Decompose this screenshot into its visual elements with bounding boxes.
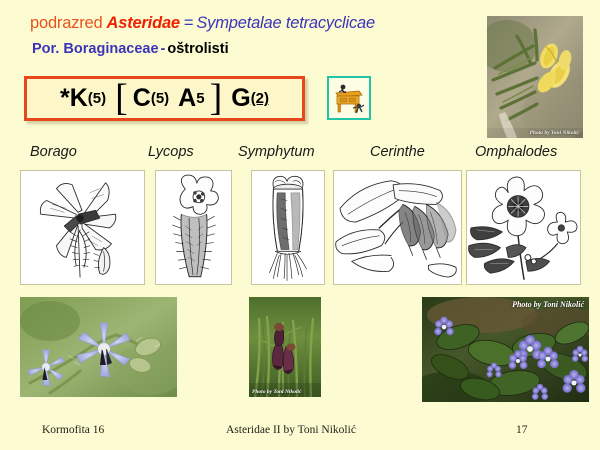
formula-calyx-letter: K bbox=[70, 84, 88, 113]
formula-bracket-open: [ bbox=[115, 85, 128, 112]
title-synonym: Sympetalae tetracyclicae bbox=[196, 14, 375, 32]
genus-label-symphytum: Symphytum bbox=[238, 144, 315, 160]
formula-gynoecium-subscript: (2) bbox=[251, 90, 269, 107]
title-equals: = bbox=[180, 14, 196, 32]
drawing-panel-lycops bbox=[155, 170, 232, 285]
floral-formula-box: *K(5)[C(5)A5]G(2) bbox=[24, 76, 305, 121]
title-subclass-word: podrazred bbox=[30, 14, 103, 32]
genus-label-omphalodes: Omphalodes bbox=[475, 144, 557, 160]
genus-label-cerinthe: Cerinthe bbox=[370, 144, 425, 160]
formula-androecium-letter: A bbox=[178, 84, 196, 113]
drawing-panel-cerinthe bbox=[333, 170, 462, 285]
desk-cartoon-icon bbox=[327, 76, 371, 120]
borago-flower-photo bbox=[20, 297, 177, 397]
floral-formula: *K(5)[C(5)A5]G(2) bbox=[27, 79, 302, 118]
formula-androecium-subscript: 5 bbox=[196, 90, 204, 107]
footer-left: Kormofita 16 bbox=[42, 424, 104, 436]
title-subclass-name: Asteridae bbox=[103, 14, 180, 32]
formula-gynoecium-letter: G bbox=[231, 84, 250, 113]
drawing-panel-borago bbox=[20, 170, 145, 285]
symphytum-flower-photo: Photo by Toni Nikolić bbox=[249, 297, 321, 397]
formula-corolla-letter: C bbox=[133, 84, 151, 113]
drawing-panel-symphytum bbox=[251, 170, 325, 285]
genus-label-lycops: Lycops bbox=[148, 144, 194, 160]
drawing-panel-omphalodes bbox=[466, 170, 581, 285]
subtitle: Por. Boraginaceae-oštrolisti bbox=[32, 41, 229, 57]
formula-corolla-subscript: (5) bbox=[151, 90, 169, 107]
formula-calyx-subscript: (5) bbox=[88, 90, 106, 107]
omphalodes-flower-photo: Photo by Toni Nikolić bbox=[422, 297, 589, 402]
subtitle-family: Por. Boraginaceae bbox=[32, 41, 159, 57]
cerinthe-yellow-flower-photo: Photo by Toni Nikolić bbox=[487, 16, 583, 138]
page-title: podrazredAsteridae=Sympetalae tetracycli… bbox=[30, 14, 375, 33]
formula-bracket-close: ] bbox=[210, 85, 223, 112]
genus-label-borago: Borago bbox=[30, 144, 77, 160]
footer-center: Asteridae II by Toni Nikolić bbox=[226, 424, 356, 436]
slide-canvas: podrazredAsteridae=Sympetalae tetracycli… bbox=[0, 0, 600, 450]
subtitle-croatian-name: oštrolisti bbox=[167, 41, 228, 57]
footer-page-number: 17 bbox=[516, 424, 528, 436]
formula-symmetry: * bbox=[60, 84, 70, 113]
